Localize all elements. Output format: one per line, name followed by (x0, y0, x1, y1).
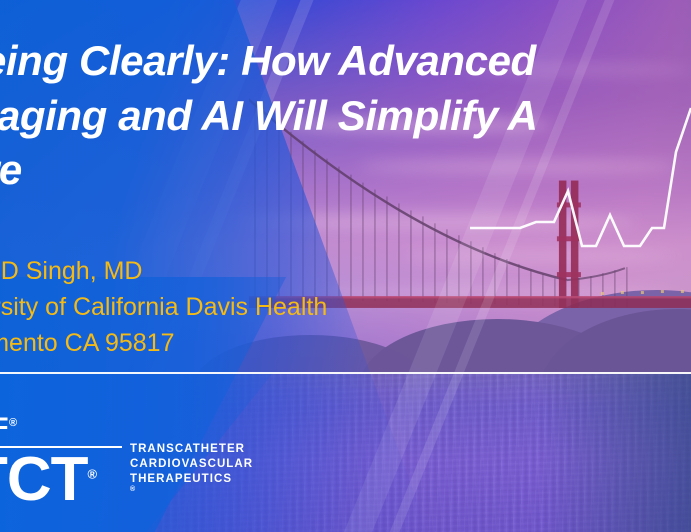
tagline-line-3-text: THERAPEUTICS (130, 472, 253, 487)
tct-tagline: TRANSCATHETER CARDIOVASCULAR THERAPEUTIC… (130, 442, 253, 510)
page-title: eeing Clearly: How Advanced maging and A… (0, 34, 691, 198)
bridge-tower (557, 181, 581, 308)
presentation-title-slide: eeing Clearly: How Advanced maging and A… (0, 0, 691, 532)
title-line-1: eeing Clearly: How Advanced (0, 34, 691, 89)
registered-mark-icon: ® (130, 486, 136, 493)
water-deep-right (539, 373, 691, 532)
tagline-line-1: TRANSCATHETER (130, 442, 253, 457)
registered-mark-icon: ® (9, 417, 18, 429)
crf-wordmark: RF® (0, 414, 122, 441)
crf-text: RF (0, 412, 9, 442)
author-location: ramento CA 95817 (0, 325, 327, 361)
author-name: an D Singh, MD (0, 253, 327, 289)
crf-tct-logo: RF® TCT® TRANSCATHETER CARDIOVASCULAR TH… (0, 414, 253, 510)
bridge-deck-lights (601, 290, 684, 295)
tct-text: TCT (0, 445, 88, 514)
tagline-line-2: CARDIOVASCULAR (130, 457, 253, 472)
registered-mark-icon: ® (88, 466, 98, 481)
author-affiliation-block: an D Singh, MD versity of California Dav… (0, 253, 327, 361)
author-institution: versity of California Davis Health (0, 289, 327, 325)
tagline-line-3: THERAPEUTICS® (130, 472, 253, 501)
logo-left-stack: RF® TCT® (0, 414, 122, 510)
title-line-3: are (0, 143, 691, 198)
title-line-2: maging and AI Will Simplify A (0, 89, 691, 144)
tct-wordmark: TCT® (0, 451, 122, 510)
